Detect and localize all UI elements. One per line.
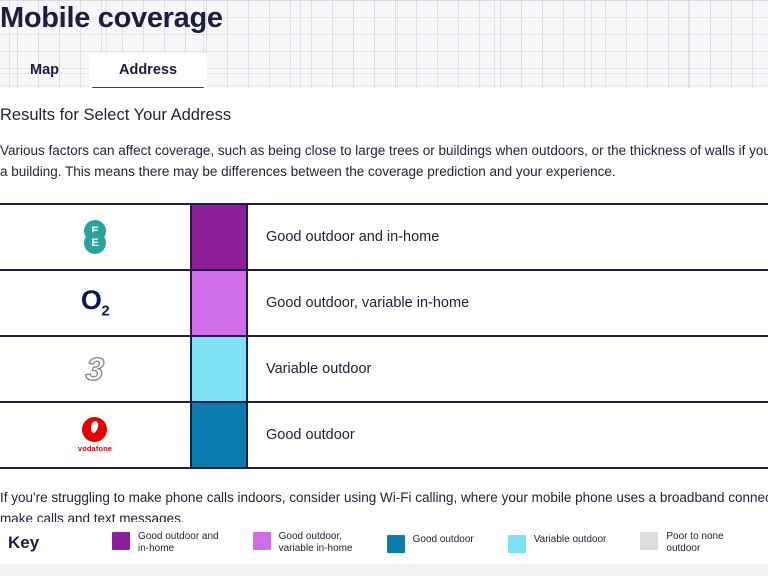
- operator-logo-cell: vodafone: [0, 403, 190, 467]
- intro-paragraph: Various factors can affect coverage, suc…: [0, 125, 768, 182]
- coverage-status: Good outdoor: [248, 403, 768, 467]
- coverage-status: Good outdoor, variable in-home: [248, 271, 768, 335]
- key-swatch: [112, 532, 130, 550]
- coverage-page: Mobile coverage Map Address Results for …: [0, 0, 768, 576]
- key-legend-bar: Key Good outdoor and in-home Good outdoo…: [0, 522, 768, 564]
- tab-active-indicator: [92, 87, 204, 88]
- coverage-swatch: [190, 403, 248, 467]
- hero-map-band: Mobile coverage Map Address: [0, 0, 768, 88]
- tab-map[interactable]: Map: [0, 53, 89, 88]
- operator-logo-cell: E E: [0, 205, 190, 269]
- tab-address-label: Address: [119, 62, 177, 78]
- bottom-strip: [0, 564, 768, 576]
- key-swatch: [253, 532, 271, 550]
- results-body: Results for Select Your Address Various …: [0, 88, 768, 529]
- table-row[interactable]: 3 Variable outdoor +: [0, 337, 768, 403]
- key-swatch: [387, 535, 405, 553]
- o2-logo: O2: [81, 287, 109, 318]
- table-row[interactable]: vodafone Good outdoor +: [0, 403, 768, 469]
- ee-logo: E E: [84, 220, 106, 254]
- key-header: Key: [0, 532, 112, 554]
- key-label: Variable outdoor: [534, 534, 607, 547]
- list-item: Poor to none outdoor: [640, 531, 723, 556]
- key-label: Poor to none outdoor: [666, 531, 723, 556]
- list-item: Good outdoor: [387, 534, 474, 553]
- operator-logo-cell: 3: [0, 337, 190, 401]
- tab-address[interactable]: Address: [89, 53, 207, 88]
- vodafone-logo: vodafone: [78, 417, 112, 453]
- results-heading: Results for Select Your Address: [0, 88, 768, 125]
- list-item: Good outdoor, variable in-home: [253, 531, 353, 556]
- page-title: Mobile coverage: [0, 2, 223, 35]
- coverage-swatch: [190, 271, 248, 335]
- wifi-calling-paragraph: If you're struggling to make phone calls…: [0, 469, 768, 529]
- coverage-status: Good outdoor and in-home: [248, 205, 768, 269]
- list-item: Variable outdoor: [508, 534, 607, 553]
- table-row[interactable]: O2 Good outdoor, variable in-home +: [0, 271, 768, 337]
- key-title: Key: [8, 533, 39, 553]
- three-logo: 3: [85, 353, 105, 385]
- key-label: Good outdoor, variable in-home: [279, 531, 353, 556]
- key-swatch: [508, 535, 526, 553]
- key-label: Good outdoor and in-home: [138, 531, 219, 556]
- tab-map-label: Map: [30, 62, 59, 78]
- table-row[interactable]: E E Good outdoor and in-home +: [0, 205, 768, 271]
- tab-bar: Map Address: [0, 48, 207, 88]
- key-swatch: [640, 532, 658, 550]
- coverage-table: E E Good outdoor and in-home + O2 Good o…: [0, 203, 768, 469]
- coverage-status: Variable outdoor: [248, 337, 768, 401]
- key-label: Good outdoor: [413, 534, 474, 547]
- key-items: Good outdoor and in-home Good outdoor, v…: [112, 531, 768, 556]
- list-item: Good outdoor and in-home: [112, 531, 219, 556]
- operator-logo-cell: O2: [0, 271, 190, 335]
- coverage-swatch: [190, 205, 248, 269]
- coverage-swatch: [190, 337, 248, 401]
